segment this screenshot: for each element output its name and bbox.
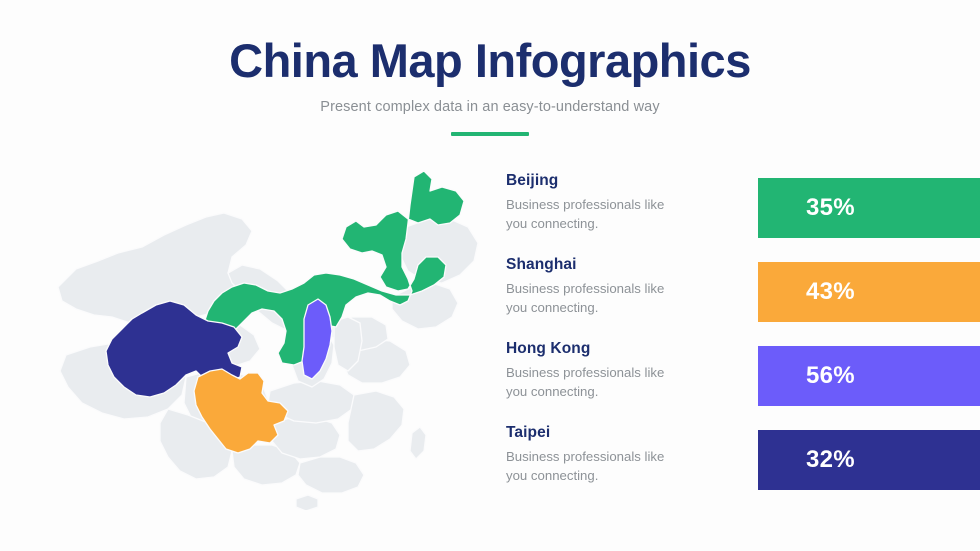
bar-shanghai[interactable]: 43% [758, 262, 980, 322]
province-taiwan [410, 427, 426, 459]
list-item[interactable]: Shanghai Business professionals like you… [506, 256, 756, 340]
region-name: Shanghai [506, 256, 756, 274]
bar-value-label: 32% [806, 446, 855, 474]
bar-value-label: 43% [806, 278, 855, 306]
page-subtitle: Present complex data in an easy-to-under… [0, 99, 980, 115]
province-fujian [348, 391, 404, 451]
header: China Map Infographics Present complex d… [0, 36, 980, 136]
region-description: Business professionals like you connecti… [506, 363, 686, 401]
bar-hong-kong[interactable]: 56% [758, 346, 980, 406]
page-title: China Map Infographics [0, 36, 980, 87]
region-description: Business professionals like you connecti… [506, 195, 686, 233]
bar-taipei[interactable]: 32% [758, 430, 980, 490]
region-name: Beijing [506, 172, 756, 190]
bar-value-label: 56% [806, 362, 855, 390]
percentage-bars: 35% 43% 56% 32% [758, 178, 980, 514]
list-item[interactable]: Hong Kong Business professionals like yo… [506, 340, 756, 424]
list-item[interactable]: Beijing Business professionals like you … [506, 172, 756, 256]
region-list: Beijing Business professionals like you … [506, 172, 756, 508]
province-hunan [272, 417, 340, 459]
region-name: Taipei [506, 424, 756, 442]
region-description: Business professionals like you connecti… [506, 279, 686, 317]
list-item[interactable]: Taipei Business professionals like you c… [506, 424, 756, 508]
province-guangdong [298, 457, 364, 493]
province-hainan [296, 495, 318, 510]
infographic-slide: China Map Infographics Present complex d… [0, 0, 980, 551]
bar-value-label: 35% [806, 194, 855, 222]
title-divider [451, 132, 529, 136]
china-map [46, 165, 496, 510]
region-description: Business professionals like you connecti… [506, 447, 686, 485]
bar-beijing[interactable]: 35% [758, 178, 980, 238]
region-name: Hong Kong [506, 340, 756, 358]
